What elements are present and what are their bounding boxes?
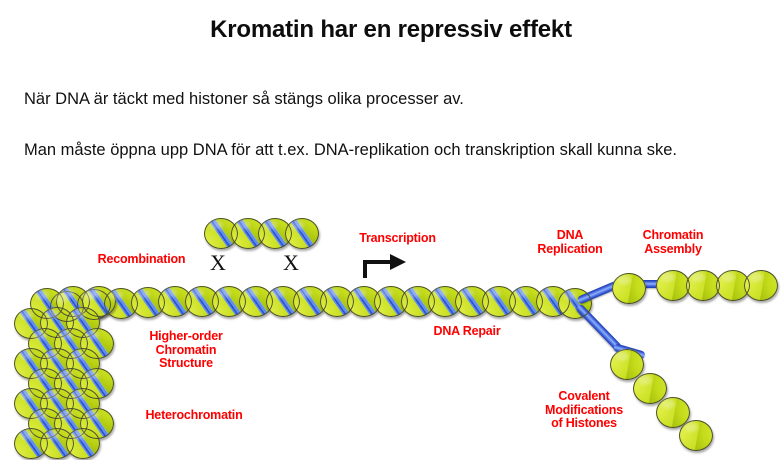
nucleosome-icon bbox=[285, 218, 319, 249]
label-chromatin-assembly: Chromatin Assembly bbox=[624, 229, 722, 256]
nucleosome-icon bbox=[656, 270, 690, 301]
body-paragraph-1: När DNA är täckt med histoner så stängs … bbox=[24, 90, 464, 109]
chromatin-diagram: Recombination Transcription DNA Replicat… bbox=[0, 196, 782, 460]
nucleosome-icon bbox=[66, 428, 100, 459]
label-heterochromatin: Heterochromatin bbox=[124, 409, 264, 423]
label-transcription: Transcription bbox=[341, 232, 454, 246]
page-title: Kromatin har en repressiv effekt bbox=[0, 16, 782, 44]
label-higher-order-chromatin-structure: Higher-order Chromatin Structure bbox=[131, 330, 241, 371]
label-covalent-modifications-of-histones: Covalent Modifications of Histones bbox=[523, 390, 645, 431]
label-recombination: Recombination bbox=[84, 253, 199, 267]
nucleosome-icon bbox=[679, 420, 713, 451]
label-dna-replication: DNA Replication bbox=[527, 229, 613, 256]
crossover-mark-1: X bbox=[210, 252, 226, 274]
crossover-mark-2: X bbox=[283, 252, 299, 274]
nucleosome-icon bbox=[612, 273, 646, 304]
body-paragraph-2: Man måste öppna upp DNA för att t.ex. DN… bbox=[24, 141, 677, 160]
label-dna-repair: DNA Repair bbox=[418, 325, 516, 339]
nucleosome-icon bbox=[744, 270, 778, 301]
transcription-arrow-icon bbox=[362, 251, 410, 279]
nucleosome-icon bbox=[686, 270, 720, 301]
